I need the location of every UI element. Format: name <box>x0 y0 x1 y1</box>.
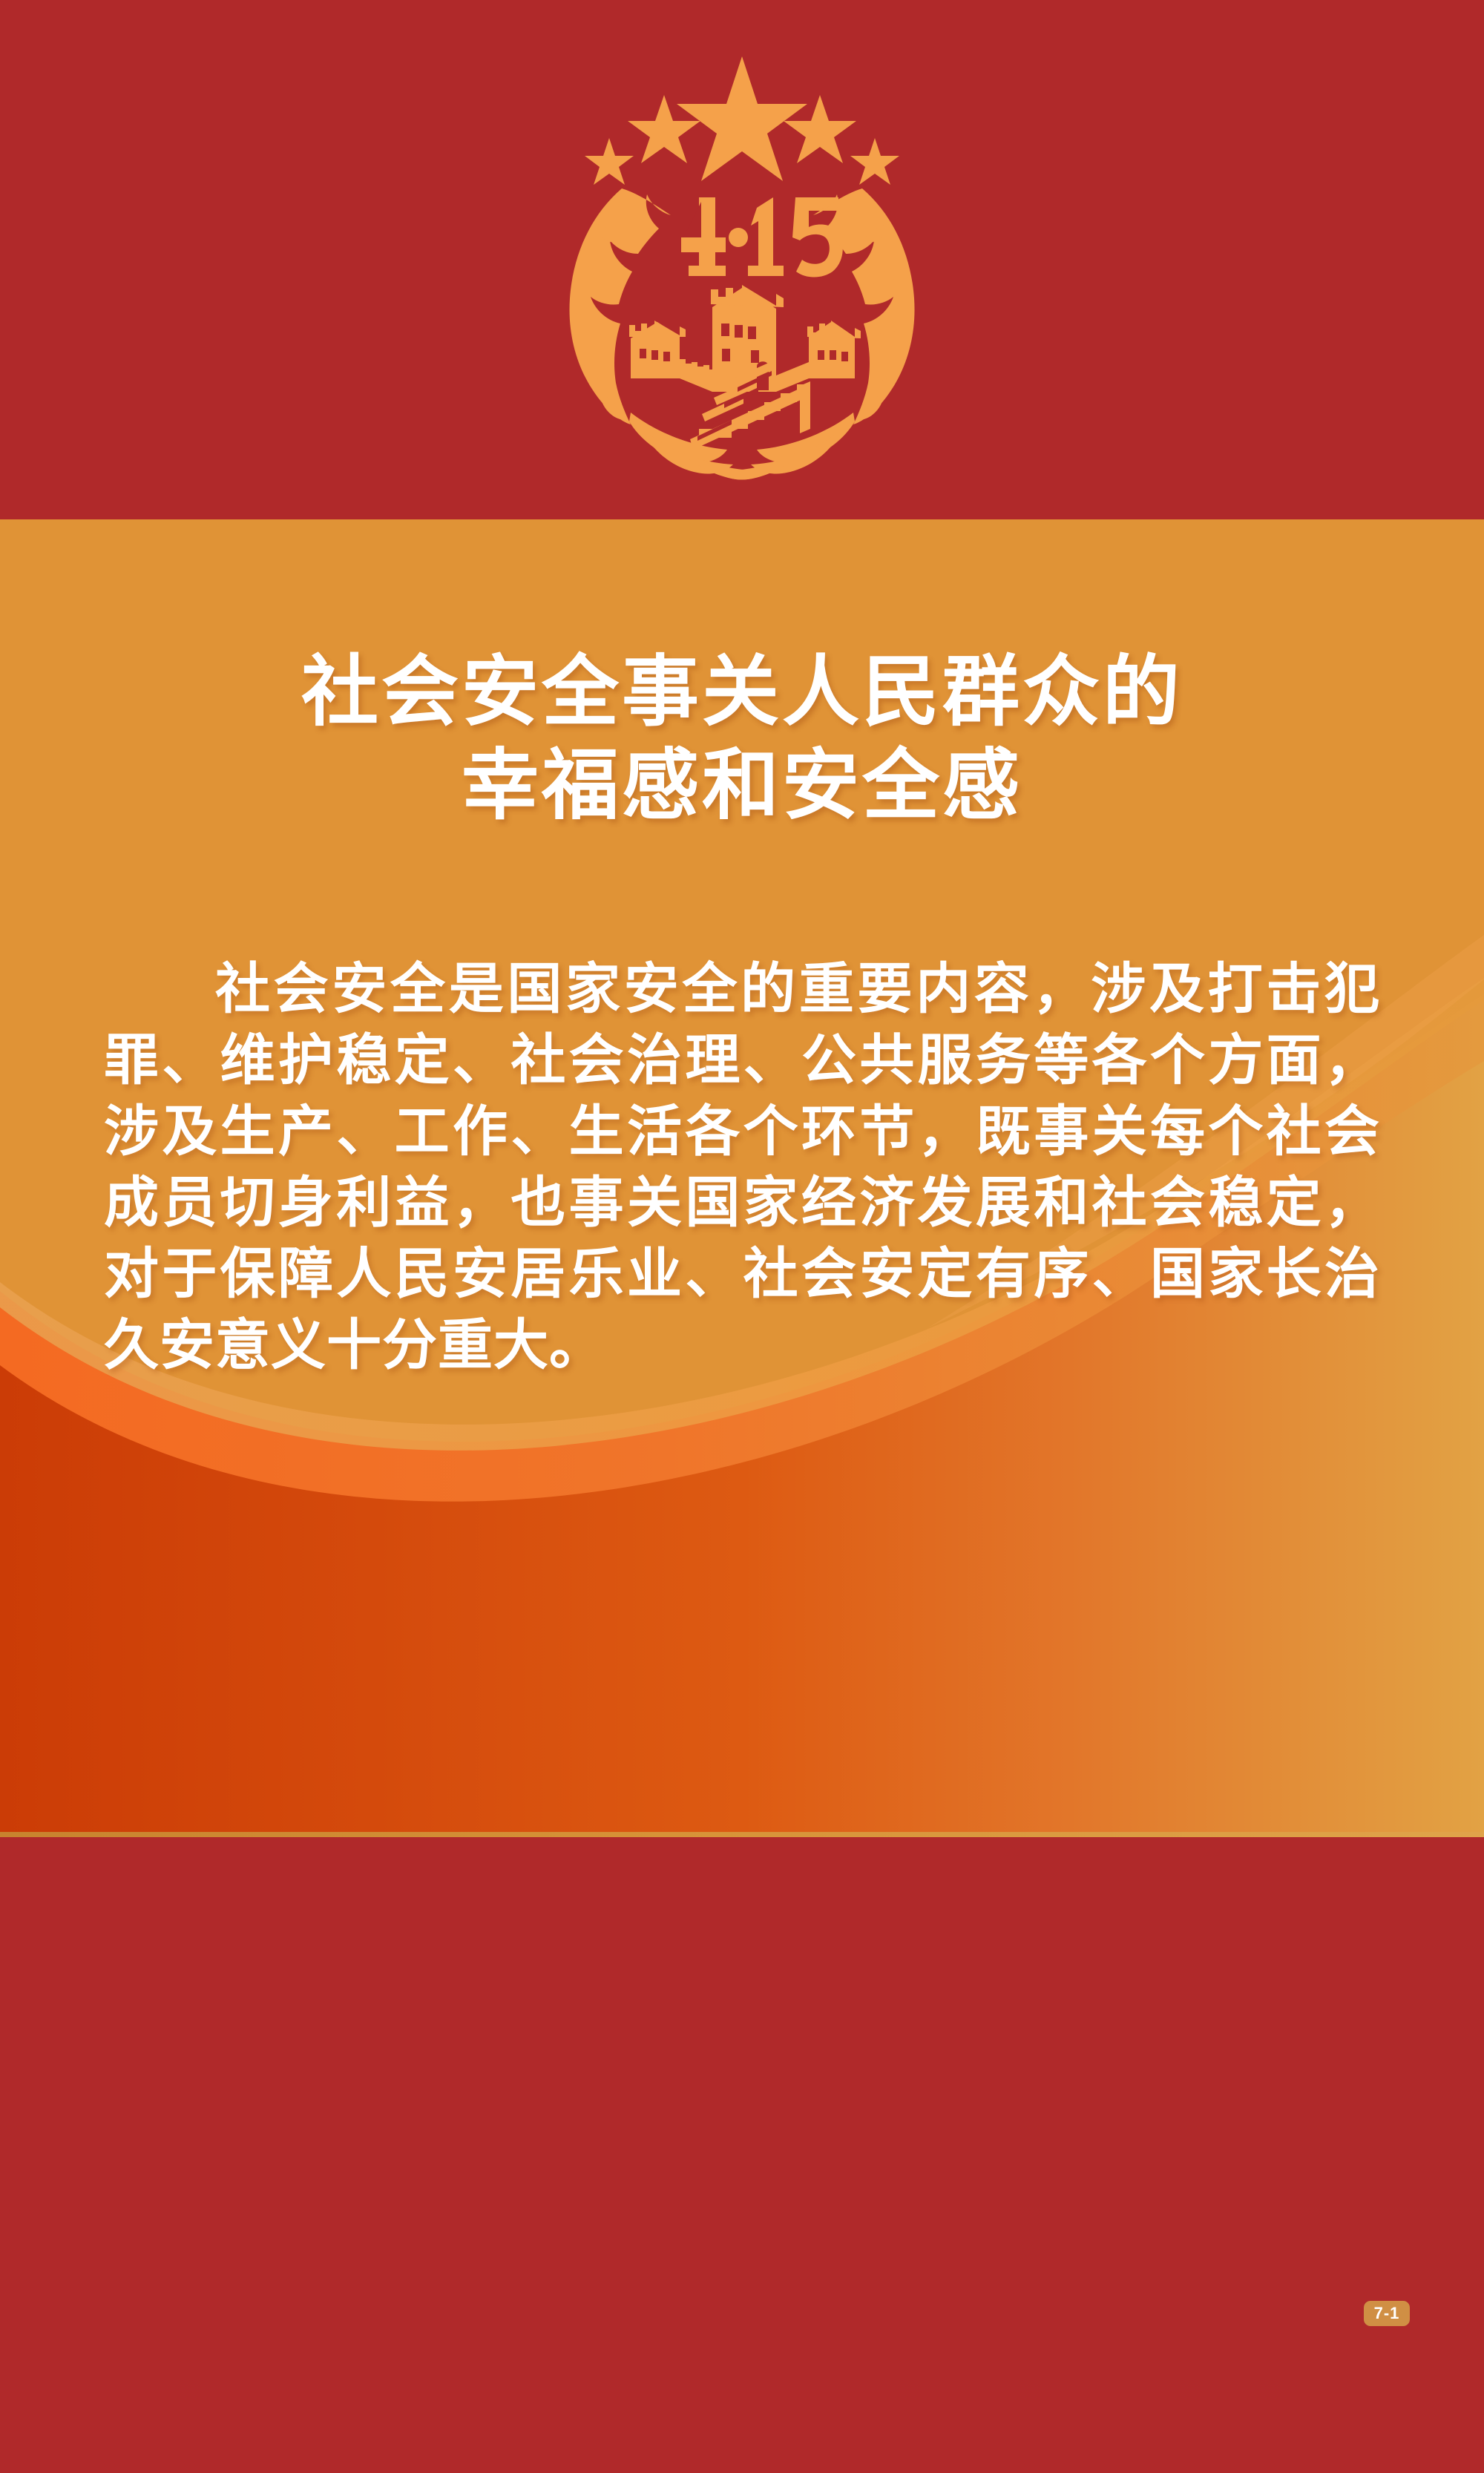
gold-divider-rule <box>0 1832 1484 1837</box>
great-wall-icon <box>629 285 861 450</box>
emblem <box>512 43 972 488</box>
body-paragraph: 社会安全是国家安全的重要内容，涉及打击犯罪、维护稳定、社会治理、公共服务等各个方… <box>104 953 1380 1381</box>
star-small-right <box>850 138 899 185</box>
emblem-date-numerals <box>681 197 843 277</box>
main-panel: 社会安全事关人民群众的 幸福感和安全感 社会安全是国家安全的重要内容，涉及打击犯… <box>0 519 1484 1837</box>
page-title: 社会安全事关人民群众的 幸福感和安全感 <box>0 646 1484 832</box>
body-copy: 社会安全是国家安全的重要内容，涉及打击犯罪、维护稳定、社会治理、公共服务等各个方… <box>0 953 1484 1381</box>
title-line-2: 幸福感和安全感 <box>0 739 1484 832</box>
page-number-badge: 7-1 <box>1364 2301 1410 2326</box>
star-center <box>677 56 807 181</box>
star-small-left <box>585 138 634 185</box>
header-band <box>0 0 1484 519</box>
poster-root: 社会安全事关人民群众的 幸福感和安全感 社会安全是国家安全的重要内容，涉及打击犯… <box>0 0 1484 2473</box>
footer-band: 7-1 <box>0 1837 1484 2473</box>
title-line-1: 社会安全事关人民群众的 <box>0 646 1484 739</box>
